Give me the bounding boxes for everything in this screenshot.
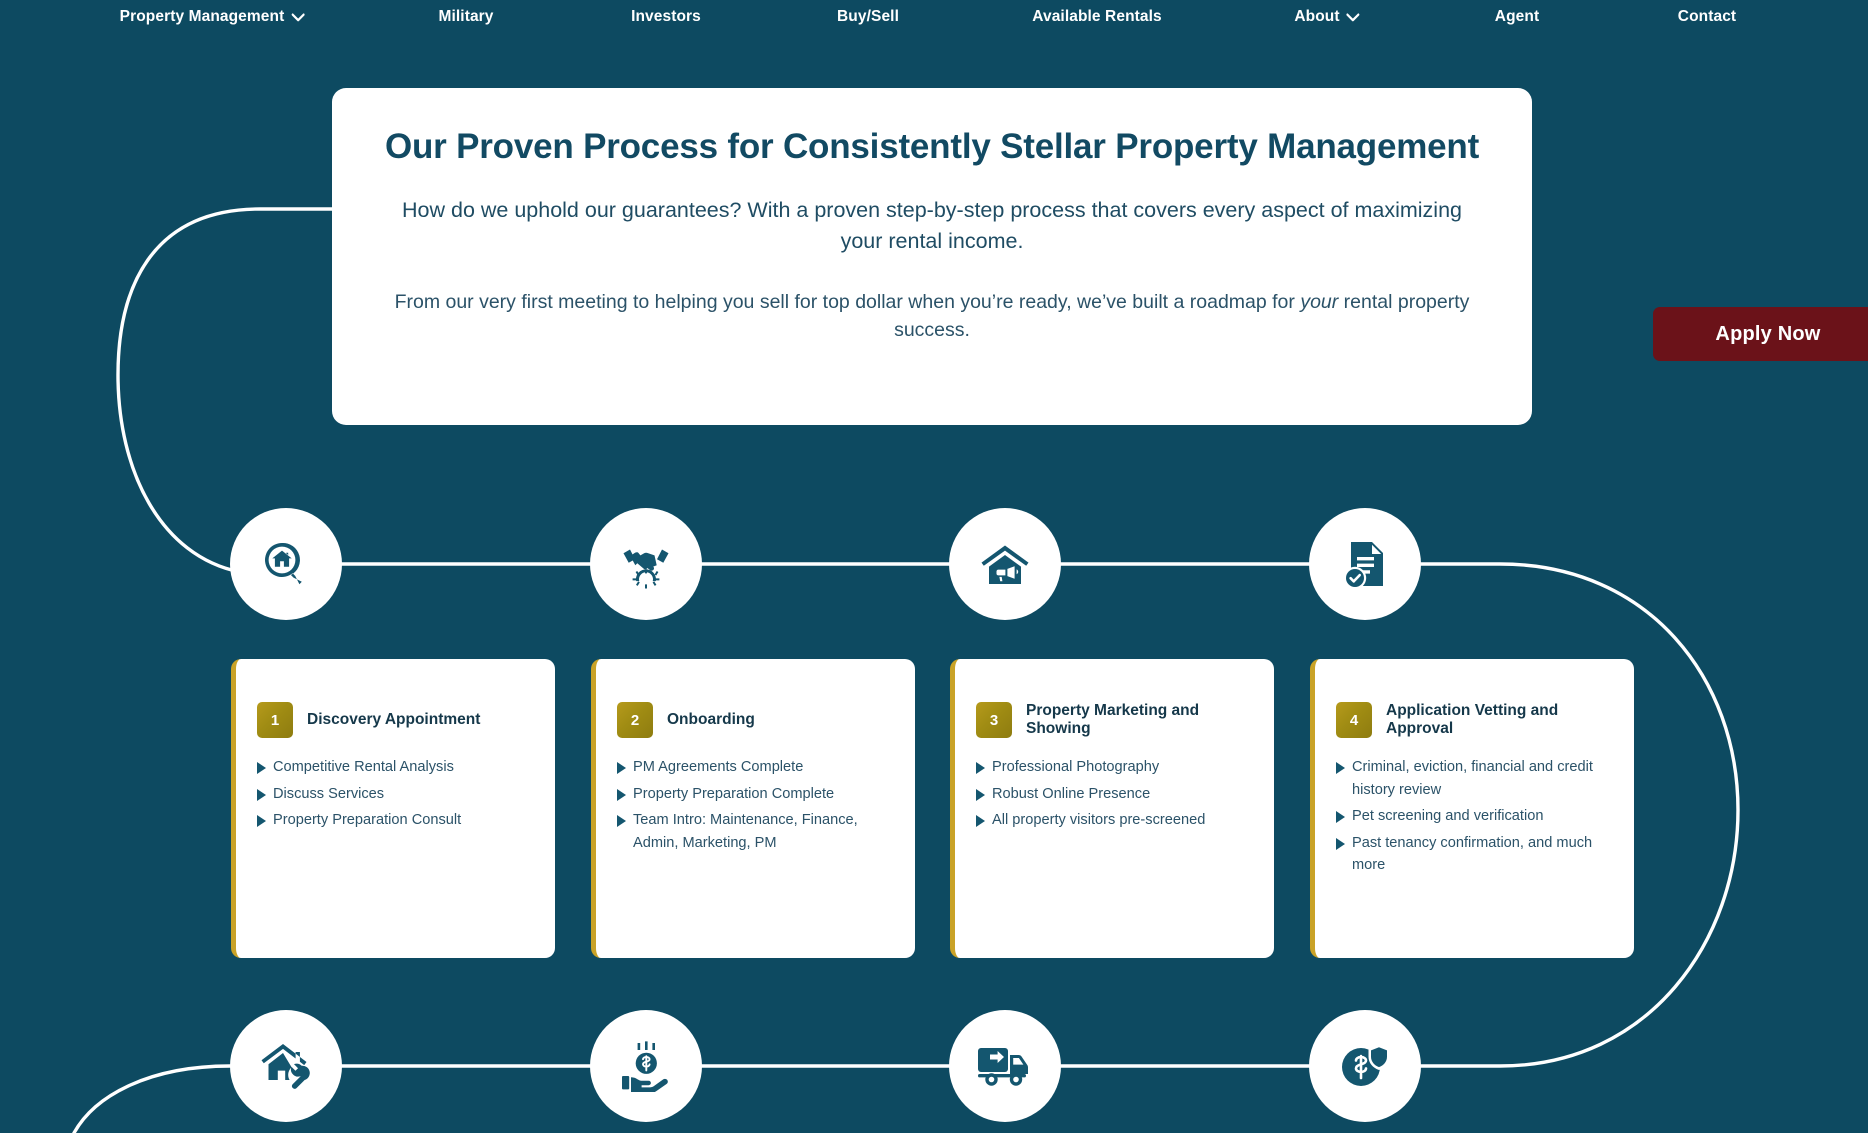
nav-item-available-rentals[interactable]: Available Rentals <box>1032 8 1161 26</box>
nav-item-agent[interactable]: Agent <box>1495 8 1539 26</box>
hero-intro-card: Our Proven Process for Consistently Stel… <box>332 88 1532 425</box>
step-number-badge: 1 <box>257 702 293 738</box>
hand-money-icon <box>618 1040 674 1092</box>
list-item: Robust Online Presence <box>976 783 1254 806</box>
home-search-icon <box>259 537 313 591</box>
chevron-down-icon <box>291 13 304 22</box>
hero-paragraph-2-emphasis: your <box>1300 291 1338 313</box>
step-bullet-list: Professional Photography Robust Online P… <box>976 756 1254 832</box>
list-item-text: Property Preparation Consult <box>273 809 461 832</box>
list-item-text: Criminal, eviction, financial and credit… <box>1352 756 1614 801</box>
apply-now-button[interactable]: Apply Now <box>1653 307 1868 361</box>
step-number-badge: 2 <box>617 702 653 738</box>
list-item: Property Preparation Complete <box>617 783 895 806</box>
nav-label: Investors <box>631 8 701 26</box>
nav-label: Buy/Sell <box>837 8 899 26</box>
triangle-bullet-icon <box>257 815 266 827</box>
step-bullet-list: PM Agreements Complete Property Preparat… <box>617 756 895 854</box>
money-shield-icon <box>1338 1040 1392 1092</box>
moving-truck-icon <box>976 1043 1034 1089</box>
list-item-text: Professional Photography <box>992 756 1159 779</box>
list-item: All property visitors pre-screened <box>976 809 1254 832</box>
process-icon-money-shield[interactable] <box>1309 1010 1421 1122</box>
list-item: Past tenancy confirmation, and much more <box>1336 832 1614 877</box>
step-card-header: 2 Onboarding <box>617 697 895 743</box>
nav-label: Military <box>438 8 493 26</box>
nav-label: About <box>1294 8 1339 26</box>
list-item-text: Past tenancy confirmation, and much more <box>1352 832 1614 877</box>
nav-item-contact[interactable]: Contact <box>1678 8 1736 26</box>
nav-label: Agent <box>1495 8 1539 26</box>
list-item-text: Property Preparation Complete <box>633 783 834 806</box>
step-card-header: 1 Discovery Appointment <box>257 697 535 743</box>
step-bullet-list: Criminal, eviction, financial and credit… <box>1336 756 1614 877</box>
process-icon-document-check[interactable] <box>1309 508 1421 620</box>
triangle-bullet-icon <box>1336 811 1345 823</box>
list-item-text: PM Agreements Complete <box>633 756 803 779</box>
step-card-1[interactable]: 1 Discovery Appointment Competitive Rent… <box>231 659 555 958</box>
list-item: Professional Photography <box>976 756 1254 779</box>
process-icon-house-megaphone[interactable] <box>949 508 1061 620</box>
triangle-bullet-icon <box>257 762 266 774</box>
list-item-text: Discuss Services <box>273 783 384 806</box>
triangle-bullet-icon <box>617 762 626 774</box>
process-icon-moving-truck[interactable] <box>949 1010 1061 1122</box>
nav-label: Contact <box>1678 8 1736 26</box>
step-title: Onboarding <box>667 711 755 729</box>
triangle-bullet-icon <box>1336 762 1345 774</box>
list-item: Discuss Services <box>257 783 535 806</box>
step-card-3[interactable]: 3 Property Marketing and Showing Profess… <box>950 659 1274 958</box>
step-card-2[interactable]: 2 Onboarding PM Agreements Complete Prop… <box>591 659 915 958</box>
step-card-header: 4 Application Vetting and Approval <box>1336 697 1614 743</box>
step-card-4[interactable]: 4 Application Vetting and Approval Crimi… <box>1310 659 1634 958</box>
nav-item-property-management[interactable]: Property Management <box>120 8 305 26</box>
step-number-badge: 4 <box>1336 702 1372 738</box>
hero-paragraph-2: From our very first meeting to helping y… <box>384 288 1480 345</box>
house-megaphone-icon <box>978 538 1032 590</box>
triangle-bullet-icon <box>976 762 985 774</box>
list-item: Pet screening and verification <box>1336 805 1614 828</box>
list-item: Criminal, eviction, financial and credit… <box>1336 756 1614 801</box>
triangle-bullet-icon <box>976 789 985 801</box>
chevron-down-icon <box>1347 13 1360 22</box>
process-icon-house-wrench[interactable] <box>230 1010 342 1122</box>
list-item: Team Intro: Maintenance, Finance, Admin,… <box>617 809 895 854</box>
document-check-icon <box>1340 538 1390 590</box>
list-item-text: Team Intro: Maintenance, Finance, Admin,… <box>633 809 895 854</box>
list-item: Property Preparation Consult <box>257 809 535 832</box>
list-item-text: Competitive Rental Analysis <box>273 756 454 779</box>
step-title: Discovery Appointment <box>307 711 480 729</box>
process-icon-handshake-gear[interactable] <box>590 508 702 620</box>
nav-item-investors[interactable]: Investors <box>631 8 701 26</box>
triangle-bullet-icon <box>617 815 626 827</box>
page-title: Our Proven Process for Consistently Stel… <box>384 126 1480 167</box>
list-item: PM Agreements Complete <box>617 756 895 779</box>
nav-label: Available Rentals <box>1032 8 1161 26</box>
triangle-bullet-icon <box>976 815 985 827</box>
list-item-text: All property visitors pre-screened <box>992 809 1205 832</box>
hero-paragraph-1: How do we uphold our guarantees? With a … <box>384 195 1480 257</box>
step-number-badge: 3 <box>976 702 1012 738</box>
process-icon-hand-money[interactable] <box>590 1010 702 1122</box>
step-bullet-list: Competitive Rental Analysis Discuss Serv… <box>257 756 535 832</box>
handshake-gear-icon <box>618 537 674 591</box>
step-title: Application Vetting and Approval <box>1386 702 1614 739</box>
step-title: Property Marketing and Showing <box>1026 702 1254 739</box>
page-root: Property Management Military Investors B… <box>0 0 1868 1133</box>
triangle-bullet-icon <box>257 789 266 801</box>
list-item-text: Robust Online Presence <box>992 783 1150 806</box>
step-card-header: 3 Property Marketing and Showing <box>976 697 1254 743</box>
nav-item-buy-sell[interactable]: Buy/Sell <box>837 8 899 26</box>
main-navigation: Property Management Military Investors B… <box>0 0 1868 40</box>
triangle-bullet-icon <box>617 789 626 801</box>
process-icon-home-search[interactable] <box>230 508 342 620</box>
hero-paragraph-2-before: From our very first meeting to helping y… <box>395 291 1301 313</box>
house-wrench-icon <box>259 1040 313 1092</box>
nav-item-about[interactable]: About <box>1294 8 1359 26</box>
nav-label: Property Management <box>120 8 285 26</box>
triangle-bullet-icon <box>1336 838 1345 850</box>
list-item: Competitive Rental Analysis <box>257 756 535 779</box>
nav-item-military[interactable]: Military <box>438 8 493 26</box>
list-item-text: Pet screening and verification <box>1352 805 1543 828</box>
